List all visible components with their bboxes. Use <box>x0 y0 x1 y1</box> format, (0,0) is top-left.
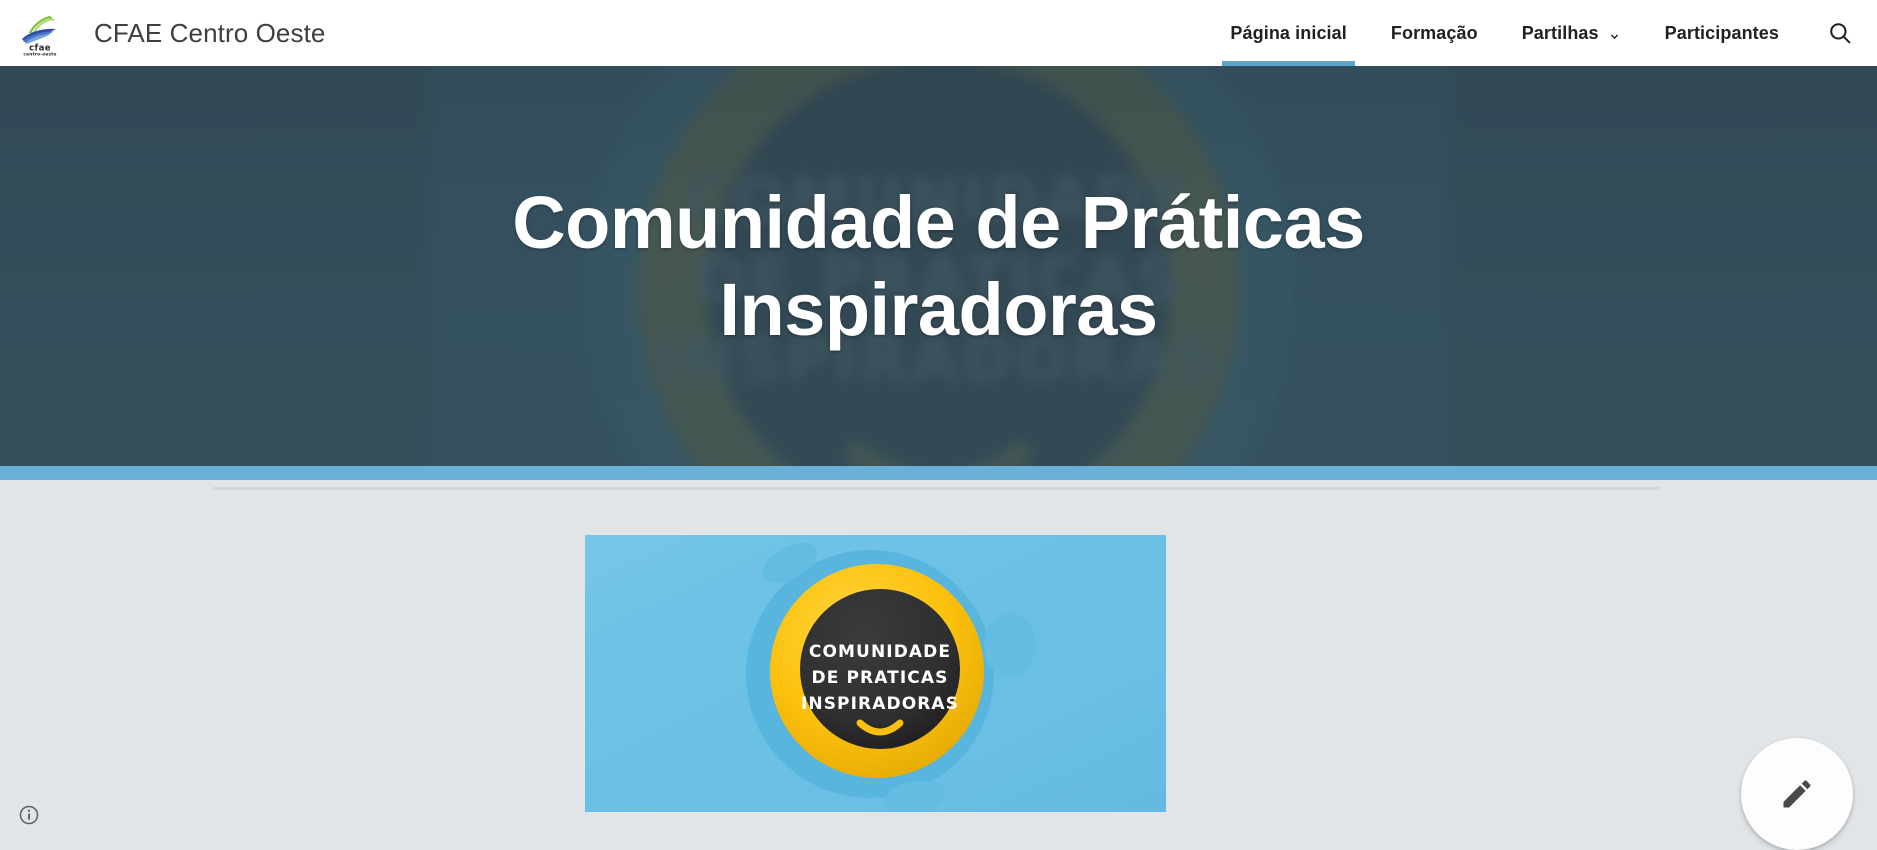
comunidade-praticas-inspiradoras-image[interactable]: COMUNIDADE DE PRATICAS INSPIRADORAS <box>585 535 1166 812</box>
search-icon[interactable] <box>1817 10 1863 56</box>
cfae-logo-svg: cfae centro-oeste <box>16 9 64 57</box>
hero-title-line-2: Inspiradoras <box>439 266 1439 353</box>
brand-block[interactable]: cfae centro-oeste CFAE Centro Oeste <box>16 0 325 66</box>
site-header: cfae centro-oeste CFAE Centro Oeste Pági… <box>0 0 1877 66</box>
nav-label: Página inicial <box>1230 23 1346 44</box>
badge-line-2: DE PRATICAS <box>812 668 949 688</box>
nav-item-participantes[interactable]: Participantes <box>1643 0 1801 66</box>
nav-item-partilhas[interactable]: Partilhas <box>1500 0 1643 66</box>
page-title: Comunidade de Práticas Inspiradoras <box>439 179 1439 354</box>
badge-line-3: INSPIRADORAS <box>801 694 959 714</box>
nav-label: Partilhas <box>1522 23 1599 44</box>
chevron-down-icon <box>1608 27 1621 40</box>
page-content: COMUNIDADE DE PRATICAS INSPIRADORAS <box>0 480 1877 842</box>
info-glyph <box>18 804 40 826</box>
main-navigation: Página inicial Formação Partilhas Partic… <box>1208 0 1801 66</box>
hero-content: Comunidade de Práticas Inspiradoras <box>0 66 1877 466</box>
hero-accent-strip <box>0 466 1877 480</box>
nav-label: Formação <box>1391 23 1478 44</box>
pencil-edit-icon <box>1779 776 1815 812</box>
nav-item-formacao[interactable]: Formação <box>1369 0 1500 66</box>
hero-title-line-1: Comunidade de Práticas <box>439 179 1439 266</box>
section-divider <box>213 487 1660 490</box>
badge-illustration: COMUNIDADE DE PRATICAS INSPIRADORAS <box>585 535 1166 812</box>
badge-line-1: COMUNIDADE <box>809 642 951 662</box>
hero-banner: COMUNIDADE DE PRATICAS INSPIRADORAS Comu… <box>0 66 1877 466</box>
nav-label: Participantes <box>1665 23 1779 44</box>
nav-item-pagina-inicial[interactable]: Página inicial <box>1208 0 1368 66</box>
info-icon[interactable] <box>12 798 46 832</box>
edit-fab-button[interactable] <box>1741 738 1853 850</box>
search-glyph <box>1827 20 1853 46</box>
svg-text:centro-oeste: centro-oeste <box>23 52 56 57</box>
site-title: CFAE Centro Oeste <box>94 18 325 49</box>
cfae-logo-icon: cfae centro-oeste <box>16 9 64 57</box>
